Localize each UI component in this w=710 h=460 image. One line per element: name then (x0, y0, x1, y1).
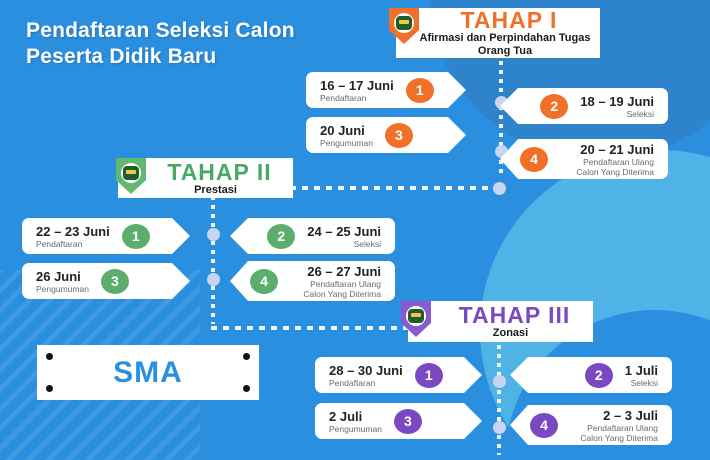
stage-subtitle: Prestasi (194, 184, 237, 197)
step-number: 4 (530, 413, 558, 438)
step-date: 20 – 21 Juni (580, 142, 654, 157)
stage-header-tahap-3: TAHAP III Zonasi (408, 301, 593, 342)
step-card[interactable]: 26 – 27 Juni Pendaftaran Ulang Calon Yan… (230, 261, 395, 301)
plaque-corner-dot (46, 353, 53, 360)
step-number: 1 (406, 78, 434, 103)
stage-title: TAHAP II (167, 160, 271, 184)
step-number: 4 (520, 147, 548, 172)
step-description: Pendaftaran (320, 93, 366, 103)
step-card[interactable]: 2 Juli Pengumuman 3 (315, 403, 482, 439)
step-date: 24 – 25 Juni (307, 224, 381, 239)
connector-line-tahap-2-to-3 (211, 326, 426, 330)
page-title: Pendaftaran Seleksi Calon Peserta Didik … (26, 18, 316, 70)
step-card[interactable]: 2 – 3 Juli Pendaftaran Ulang Calon Yang … (510, 405, 672, 445)
step-date: 2 Juli (329, 409, 362, 424)
school-level-label: SMA (113, 356, 183, 390)
step-card[interactable]: 16 – 17 Juni Pendaftaran 1 (306, 72, 466, 108)
step-number: 3 (394, 409, 422, 434)
step-date: 1 Juli (625, 363, 658, 378)
step-card[interactable]: 20 – 21 Juni Pendaftaran Ulang Calon Yan… (500, 139, 668, 179)
stage-subtitle: Zonasi (493, 327, 528, 340)
step-date: 20 Juni (320, 123, 365, 138)
step-description: Pendaftaran (36, 239, 82, 249)
step-card[interactable]: 18 – 19 Juni Seleksi 2 (500, 88, 668, 124)
shield-emblem-icon (401, 301, 431, 335)
step-date: 26 – 27 Juni (307, 264, 381, 279)
step-number: 1 (122, 224, 150, 249)
step-card[interactable]: 1 Juli Seleksi 2 (510, 357, 672, 393)
step-description: Pengumuman (329, 424, 382, 434)
step-card[interactable]: 22 – 23 Juni Pendaftaran 1 (22, 218, 190, 254)
connector-line-tahap-3 (497, 345, 501, 455)
step-card[interactable]: 28 – 30 Juni Pendaftaran 1 (315, 357, 482, 393)
plaque-corner-dot (46, 385, 53, 392)
connector-node (207, 273, 220, 286)
step-date: 16 – 17 Juni (320, 78, 394, 93)
step-card[interactable]: 26 Juni Pengumuman 3 (22, 263, 190, 299)
school-level-plaque: SMA (37, 345, 259, 400)
connector-line-tahap-2 (211, 196, 215, 324)
step-date: 18 – 19 Juni (580, 94, 654, 109)
step-card[interactable]: 24 – 25 Juni Seleksi 2 (230, 218, 395, 254)
connector-node (207, 228, 220, 241)
step-number: 4 (250, 269, 278, 294)
step-card[interactable]: 20 Juni Pengumuman 3 (306, 117, 466, 153)
stage-title: TAHAP I (461, 8, 558, 32)
plaque-corner-dot (243, 385, 250, 392)
connector-line-tahap-1-to-2 (290, 186, 499, 190)
step-description: Seleksi (354, 239, 381, 249)
step-description: Pendaftaran (329, 378, 375, 388)
step-number: 2 (267, 224, 295, 249)
stage-header-tahap-1: TAHAP I Afirmasi dan Perpindahan Tugas O… (396, 8, 600, 58)
step-number: 3 (385, 123, 413, 148)
plaque-corner-dot (243, 353, 250, 360)
connector-node (493, 182, 506, 195)
step-description: Pengumuman (36, 284, 89, 294)
stage-subtitle: Afirmasi dan Perpindahan Tugas Orang Tua (416, 32, 594, 58)
step-description: Pendaftaran Ulang Calon Yang Diterima (570, 423, 658, 443)
step-date: 28 – 30 Juni (329, 363, 403, 378)
step-description: Seleksi (631, 378, 658, 388)
connector-node (493, 421, 506, 434)
step-date: 26 Juni (36, 269, 81, 284)
step-number: 2 (585, 363, 613, 388)
step-description: Pengumuman (320, 138, 373, 148)
infographic-poster: Pendaftaran Seleksi Calon Peserta Didik … (0, 0, 710, 460)
stage-title: TAHAP III (459, 303, 571, 327)
step-date: 22 – 23 Juni (36, 224, 110, 239)
step-date: 2 – 3 Juli (603, 408, 658, 423)
connector-node (493, 375, 506, 388)
step-description: Pendaftaran Ulang Calon Yang Diterima (290, 279, 381, 299)
step-number: 1 (415, 363, 443, 388)
shield-emblem-icon (116, 158, 146, 192)
step-number: 2 (540, 94, 568, 119)
shield-emblem-icon (389, 8, 419, 42)
step-description: Pendaftaran Ulang Calon Yang Diterima (560, 157, 654, 177)
step-number: 3 (101, 269, 129, 294)
step-description: Seleksi (627, 109, 654, 119)
